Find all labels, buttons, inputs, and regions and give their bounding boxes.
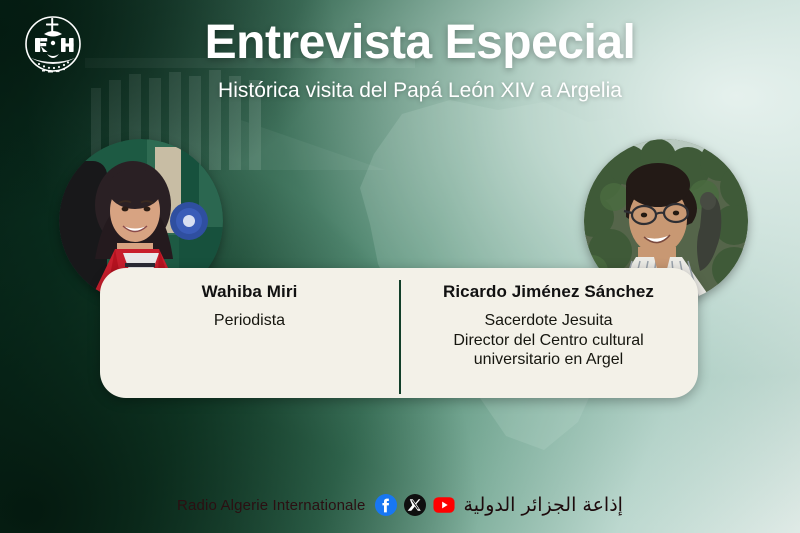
footer-bar: Radio Algerie Internationale <box>0 494 800 516</box>
page-title: Entrevista Especial <box>120 18 720 68</box>
guest-role: Sacerdote Jesuita Director del Centro cu… <box>453 311 643 370</box>
guest-role-line: Sacerdote Jesuita <box>453 311 643 331</box>
guest-name: Ricardo Jiménez Sánchez <box>443 282 654 302</box>
footer-arabic-label: إذاعة الجزائر الدولية <box>464 494 623 516</box>
facebook-icon[interactable] <box>375 494 397 516</box>
guest-role-line: universitario en Argel <box>453 350 643 370</box>
guest-role-line: Director del Centro cultural <box>453 331 643 351</box>
guest-block-0: Wahiba Miri Periodista <box>100 268 399 398</box>
youtube-icon[interactable] <box>433 494 455 516</box>
page-subtitle: Histórica visita del Papá León XIV a Arg… <box>120 78 720 103</box>
guest-name: Wahiba Miri <box>202 282 298 302</box>
radio-algerie-logo-icon <box>17 10 89 84</box>
guest-role: Periodista <box>214 311 285 331</box>
guest-block-1: Ricardo Jiménez Sánchez Sacerdote Jesuit… <box>399 268 698 398</box>
title-block: Entrevista Especial Histórica visita del… <box>120 18 720 104</box>
broadcast-graphic: Entrevista Especial Histórica visita del… <box>0 0 800 533</box>
guest-name-card: Wahiba Miri Periodista Ricardo Jiménez S… <box>100 268 698 398</box>
footer-latin-label: Radio Algerie Internationale <box>177 497 366 514</box>
x-twitter-icon[interactable] <box>404 494 426 516</box>
card-divider <box>399 280 401 394</box>
social-links <box>375 494 455 516</box>
guest-role-line: Periodista <box>214 311 285 331</box>
